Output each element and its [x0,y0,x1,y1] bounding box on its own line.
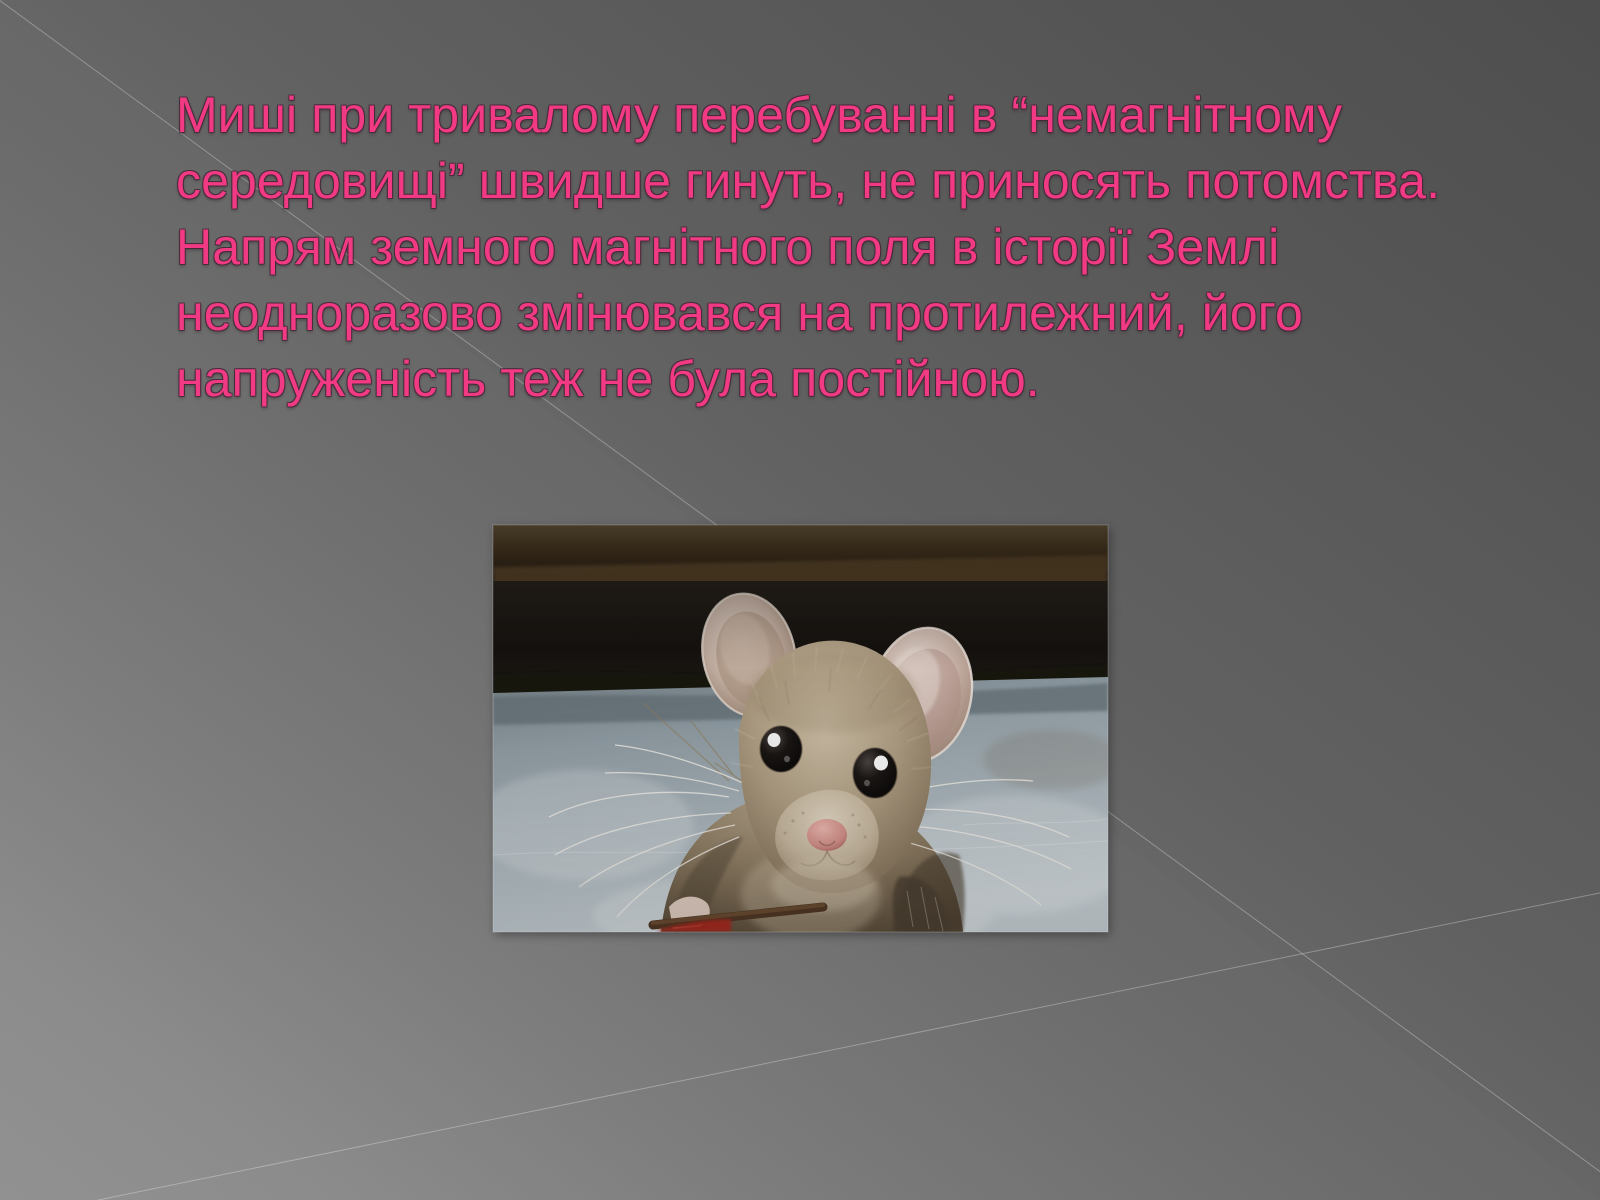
slide-body-text: Миші при тривалому перебуванні в “немагн… [176,82,1506,412]
slide-canvas: Миші при тривалому перебуванні в “немагн… [0,0,1600,1200]
mouse-photo [493,525,1108,932]
